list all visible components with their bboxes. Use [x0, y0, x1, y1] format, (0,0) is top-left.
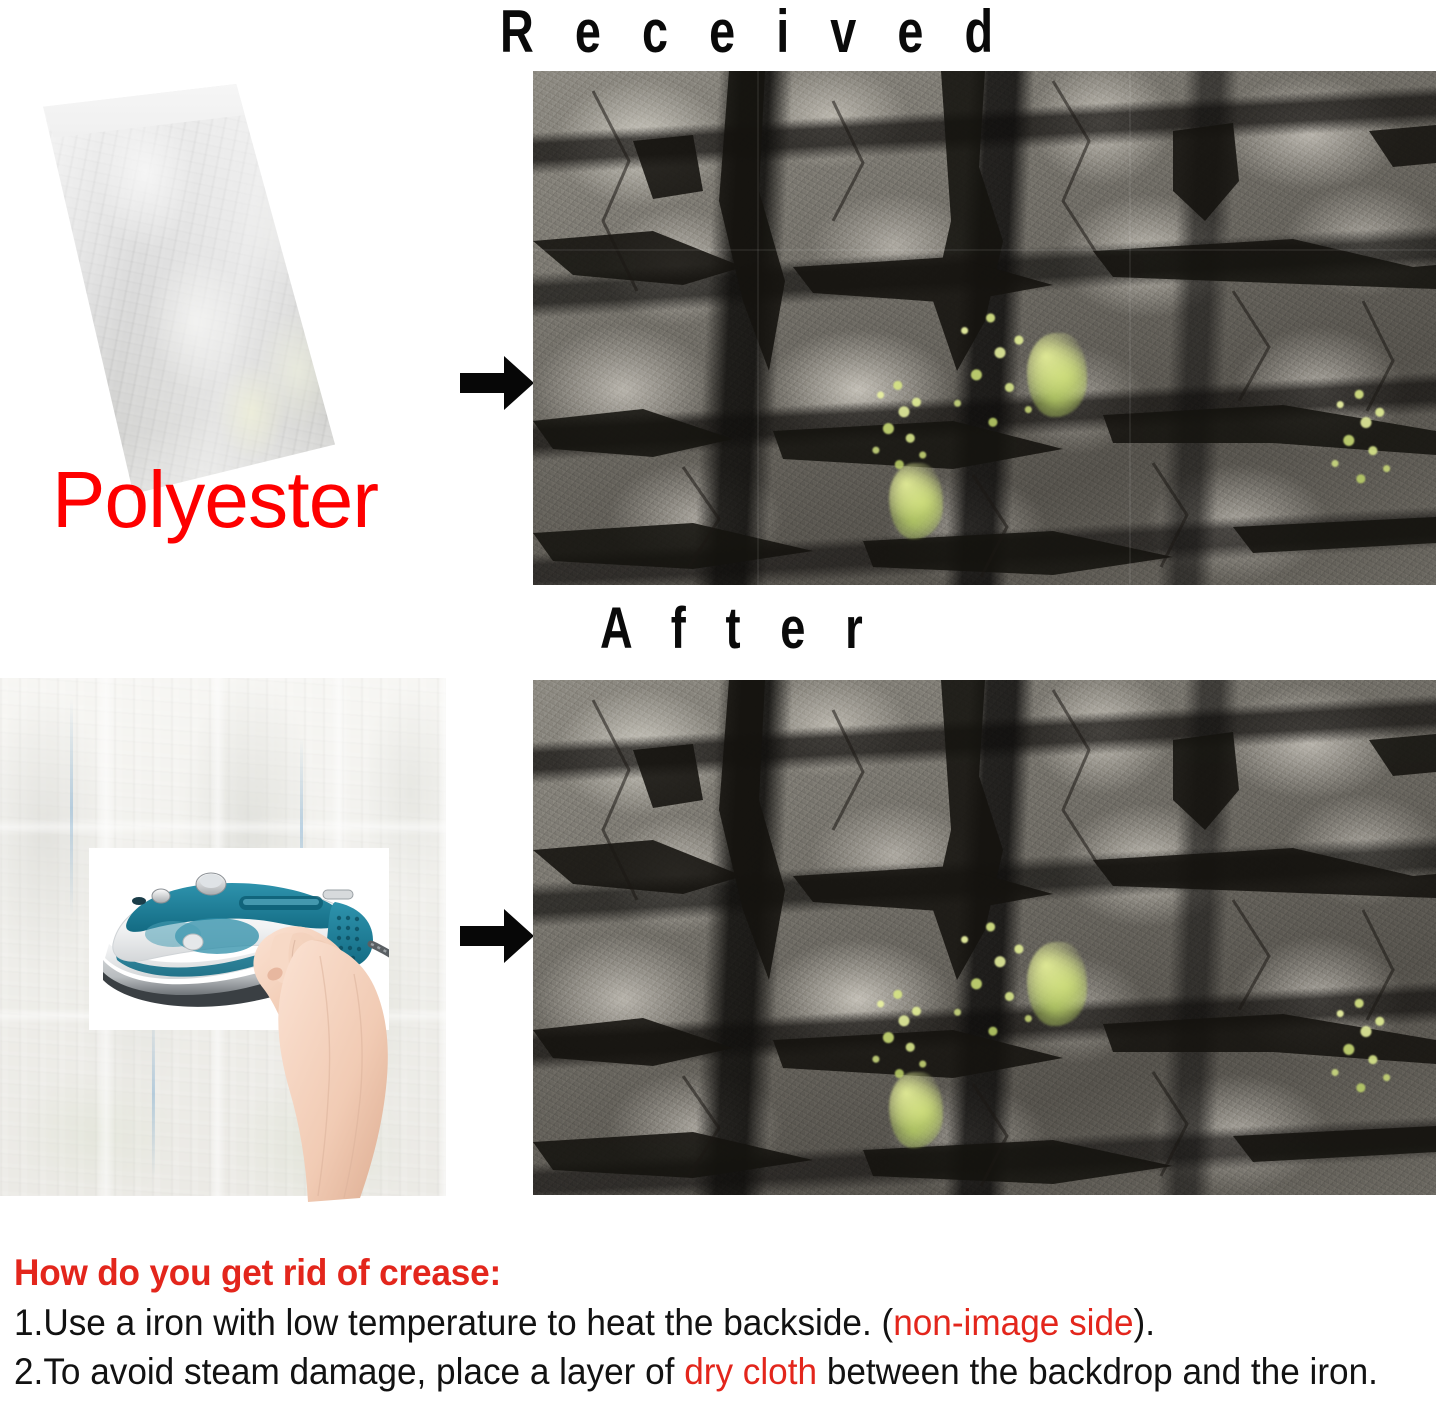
- instruction-line-2-part1: 2.To avoid steam damage, place a layer o…: [14, 1351, 684, 1392]
- instruction-line-2-highlight: dry cloth: [684, 1351, 817, 1392]
- product-instruction-graphic: R e c e i v e d Polyester: [0, 0, 1436, 1401]
- instructions-heading: How do you get rid of crease:: [14, 1252, 1354, 1295]
- crease-line: [0, 818, 446, 836]
- foliage-tuft: [1323, 988, 1409, 1116]
- material-caption: Polyester: [52, 460, 378, 540]
- foliage-tuft: [1027, 333, 1087, 417]
- foliage-tuft: [889, 1072, 943, 1148]
- foliage-tuft: [1027, 942, 1087, 1026]
- instruction-line-1-part2: ).: [1134, 1302, 1155, 1343]
- crease-sheen: [152, 1008, 155, 1178]
- instruction-line-1-highlight: non-image side: [893, 1302, 1133, 1343]
- right-arrow-icon: [458, 352, 536, 414]
- instruction-line-2-part2: between the backdrop and the iron.: [817, 1351, 1378, 1392]
- iron-demo-photo: [89, 848, 389, 1030]
- instruction-line-2: 2.To avoid steam damage, place a layer o…: [14, 1350, 1354, 1393]
- crease-line: [438, 678, 446, 1196]
- folded-fabric-photo: [20, 82, 440, 494]
- section-label-after: A f t e r: [600, 600, 876, 658]
- instruction-line-1-part1: 1.Use a iron with low temperature to hea…: [14, 1302, 893, 1343]
- crease-sheen: [70, 698, 73, 918]
- foliage-tuft: [889, 463, 943, 539]
- fabric-sheet: [20, 82, 440, 494]
- section-label-received: R e c e i v e d: [500, 2, 1007, 62]
- received-backdrop-photo: [533, 71, 1436, 585]
- instruction-line-1: 1.Use a iron with low temperature to hea…: [14, 1301, 1354, 1344]
- after-backdrop-photo: [533, 680, 1436, 1195]
- foliage-tuft: [1323, 379, 1409, 507]
- instructions-block: How do you get rid of crease: 1.Use a ir…: [14, 1252, 1424, 1393]
- right-arrow-icon: [458, 905, 536, 967]
